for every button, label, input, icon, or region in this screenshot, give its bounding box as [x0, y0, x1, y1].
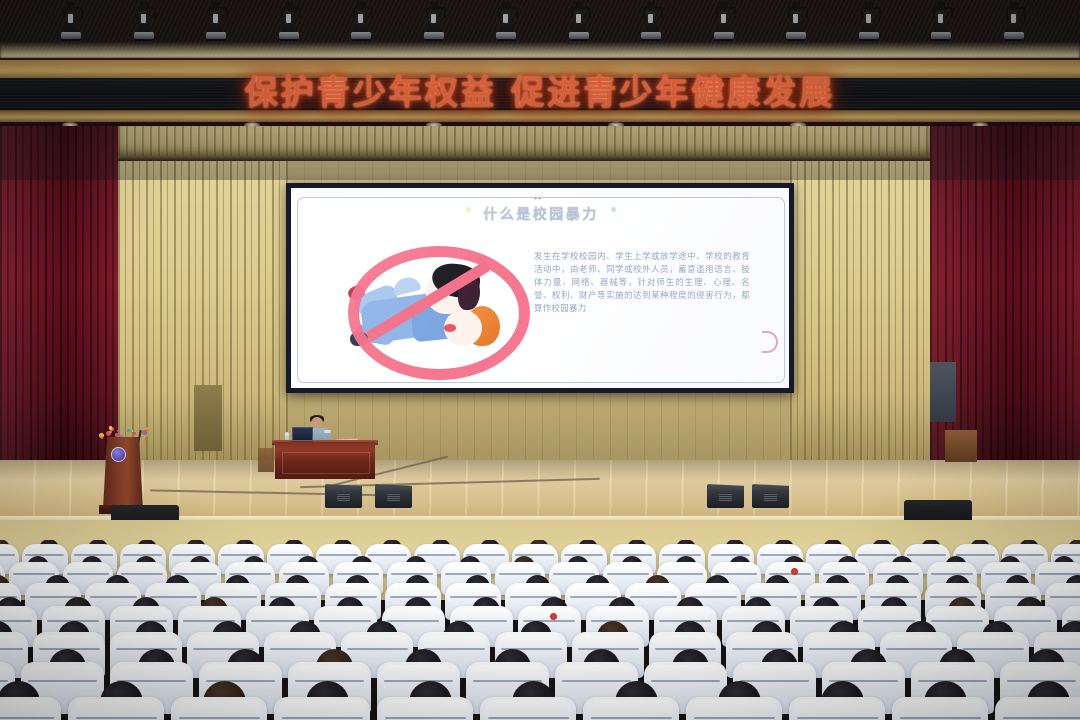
light-lens: [859, 32, 879, 39]
speaker-grill: [337, 493, 350, 501]
light-hotspot: [648, 14, 653, 23]
desk-front-panel: [282, 452, 370, 474]
stage-light: [1001, 2, 1027, 50]
flower: [109, 431, 111, 433]
led-banner-text: 保护青少年权益 促进青少年健康发展: [0, 62, 1080, 118]
valance-edge: [118, 156, 930, 161]
auditorium-seat: [274, 697, 370, 720]
speaker-grill: [387, 493, 400, 501]
stage-wood-crate: [258, 448, 274, 472]
light-hotspot: [141, 14, 146, 23]
stage-light: [421, 2, 447, 50]
presenter-epaulette: [324, 430, 331, 433]
light-lens: [351, 32, 371, 39]
auditorium-seat: [583, 697, 679, 720]
slide-corner-ornament-icon: [762, 331, 778, 353]
stage-side-box: [930, 362, 956, 422]
backstage-door-gap: [194, 385, 222, 451]
auditorium-seat: [0, 697, 61, 720]
auditorium-photo: 保护青少年权益 促进青少年健康发展 ✖ 什么是校园暴力: [0, 0, 1080, 720]
floor-monitor-speaker: [325, 484, 362, 508]
light-hotspot: [721, 14, 726, 23]
flower: [132, 432, 136, 436]
light-hotspot: [68, 14, 73, 23]
audience-seating: [0, 540, 1080, 720]
floor-monitor-speaker: [707, 484, 744, 508]
light-lens: [206, 32, 226, 39]
light-lens: [61, 32, 81, 39]
light-lens: [786, 32, 806, 39]
floor-monitor-speaker: [752, 484, 789, 508]
light-lens: [496, 32, 516, 39]
stage-light: [566, 2, 592, 50]
speaker-grill: [764, 493, 777, 501]
stage-light: [493, 2, 519, 50]
flower: [117, 430, 119, 432]
podium-emblem-icon: [111, 447, 126, 462]
slide-title: 什么是校园暴力: [298, 204, 784, 224]
stage-light: [203, 2, 229, 50]
light-lens: [134, 32, 154, 39]
prohibition-bullying-illustration: [340, 240, 516, 365]
prohibition-circle-icon: [348, 246, 530, 380]
light-hotspot: [793, 14, 798, 23]
stage-light: [783, 2, 809, 50]
stage-light: [348, 2, 374, 50]
light-hotspot: [503, 14, 508, 23]
auditorium-seat: [686, 697, 782, 720]
stage-light: [638, 2, 664, 50]
light-lens: [714, 32, 734, 39]
slide-body-text: 发生在学校校园内、学生上学或放学途中、学校的教育活动中，由老师、同学或校外人员，…: [534, 250, 750, 315]
ceiling-glow: [0, 42, 1080, 58]
stage-light: [58, 2, 84, 50]
stage-light: [856, 2, 882, 50]
light-hotspot: [286, 14, 291, 23]
auditorium-seat: [377, 697, 473, 720]
light-hotspot: [938, 14, 943, 23]
presentation-slide: ✖ 什么是校园暴力 发生在学校校园内、学生上学或放学途中、学校的教育活动中，由老…: [297, 197, 785, 383]
light-hotspot: [358, 14, 363, 23]
auditorium-seat: [480, 697, 576, 720]
light-hotspot: [431, 14, 436, 23]
curtain-valance: [118, 126, 930, 158]
ceiling: [0, 0, 1080, 58]
auditorium-seat: [995, 697, 1080, 720]
floor-monitor-speaker: [375, 484, 412, 508]
stage-floor-shadow: [0, 460, 1080, 480]
speaker-grill: [719, 493, 732, 501]
light-lens: [641, 32, 661, 39]
stage-light: [131, 2, 157, 50]
light-hotspot: [213, 14, 218, 23]
light-hotspot: [576, 14, 581, 23]
light-lens: [424, 32, 444, 39]
light-lens: [1004, 32, 1024, 39]
auditorium-seat: [171, 697, 267, 720]
side-curtain-left: [0, 126, 118, 471]
stage-light: [928, 2, 954, 50]
curtain-sheen: [0, 126, 118, 471]
main-curtain-right: [790, 158, 930, 471]
stage-light: [711, 2, 737, 50]
light-hotspot: [1011, 14, 1016, 23]
light-lens: [569, 32, 589, 39]
auditorium-seat: [68, 697, 164, 720]
stage-light: [276, 2, 302, 50]
slide-title-ornament-icon: ✖: [533, 197, 543, 202]
stage-wood-crate: [945, 430, 977, 462]
flower: [145, 438, 148, 441]
light-lens: [931, 32, 951, 39]
auditorium-seat: [892, 697, 988, 720]
flower: [101, 437, 103, 439]
auditorium-seat: [789, 697, 885, 720]
light-lens: [279, 32, 299, 39]
light-hotspot: [866, 14, 871, 23]
